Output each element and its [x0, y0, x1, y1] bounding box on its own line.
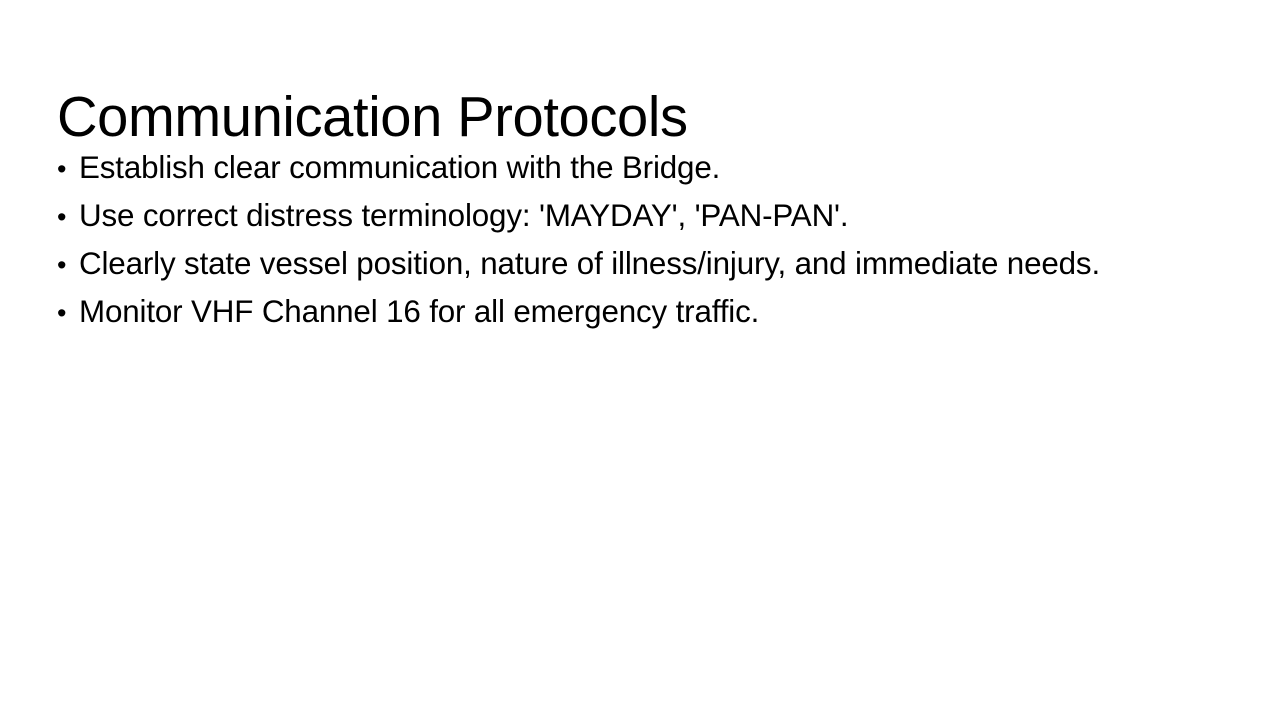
slide-canvas: Communication Protocols • Establish clea…: [0, 0, 1280, 720]
bullet-list: • Establish clear communication with the…: [57, 143, 1237, 335]
bullet-point-icon: •: [57, 145, 79, 193]
list-item: • Monitor VHF Channel 16 for all emergen…: [57, 287, 1237, 335]
list-item: • Clearly state vessel position, nature …: [57, 239, 1237, 287]
list-item: • Use correct distress terminology: 'MAY…: [57, 191, 1237, 239]
page-title: Communication Protocols: [57, 86, 1209, 150]
list-item-label: Establish clear communication with the B…: [79, 143, 720, 191]
list-item-label: Monitor VHF Channel 16 for all emergency…: [79, 287, 759, 335]
bullet-point-icon: •: [57, 289, 79, 337]
list-item-label: Use correct distress terminology: 'MAYDA…: [79, 191, 848, 239]
bullet-point-icon: •: [57, 193, 79, 241]
bullet-point-icon: •: [57, 241, 79, 289]
list-item-label: Clearly state vessel position, nature of…: [79, 239, 1100, 287]
list-item: • Establish clear communication with the…: [57, 143, 1237, 191]
